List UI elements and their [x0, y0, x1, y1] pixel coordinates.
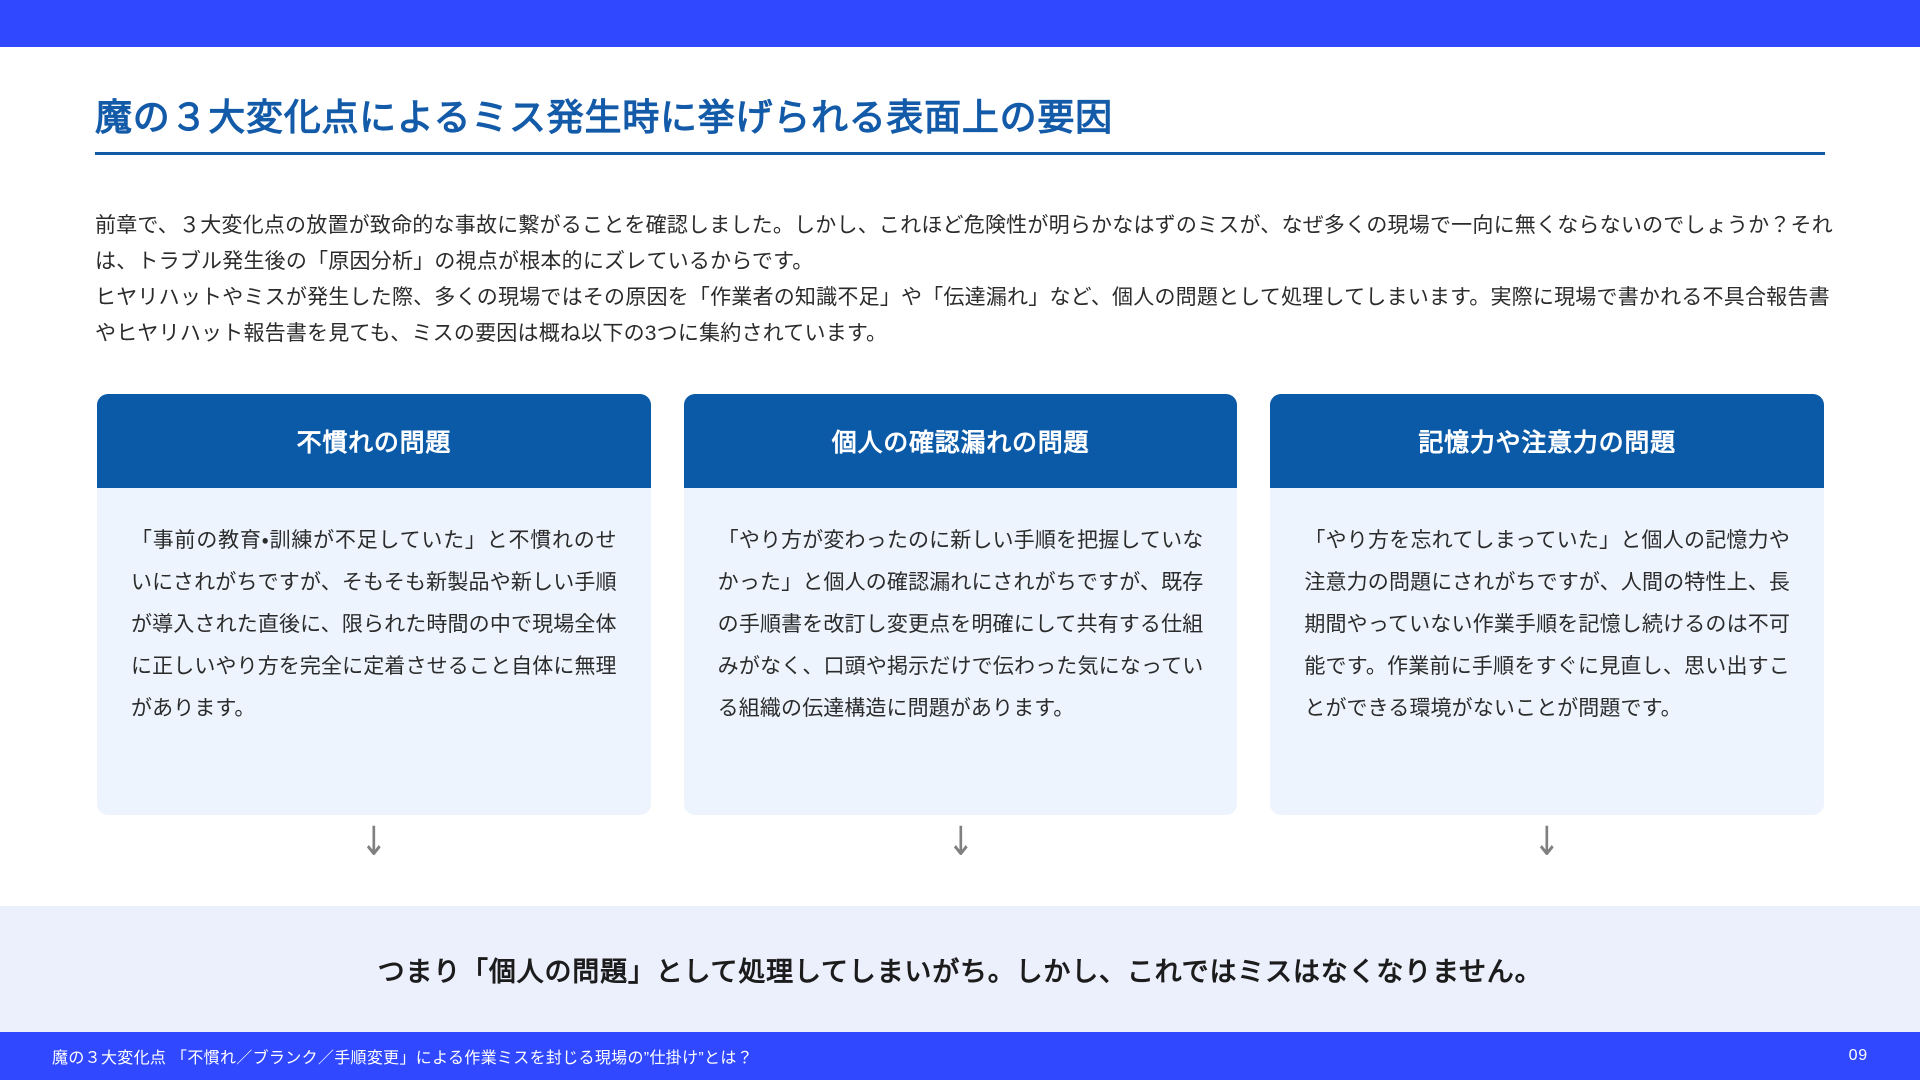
factor-card-2: 個人の確認漏れの問題 「やり方が変わったのに新しい手順を把握していなかった」と個… — [684, 394, 1238, 815]
factor-card-3-title: 記憶力や注意力の問題 — [1270, 394, 1824, 488]
page-title: 魔の３大変化点によるミス発生時に挙げられる表面上の要因 — [95, 96, 1825, 140]
arrow-cell-2: ↓ — [684, 822, 1238, 862]
factor-card-list: 不慣れの問題 「事前の教育・訓練が不足していた」と不慣れのせいにされがちですが、… — [97, 394, 1824, 815]
arrow-cell-1: ↓ — [97, 822, 651, 862]
title-underline-rule — [95, 152, 1825, 155]
intro-text-block: 前章で、３大変化点の放置が致命的な事故に繋がることを確認しました。しかし、これほ… — [95, 208, 1835, 352]
footer-title: 魔の３大変化点 「不慣れ／ブランク／手順変更」による作業ミスを封じる現場の”仕掛… — [52, 1044, 753, 1068]
footer-page-number: 09 — [1849, 1047, 1868, 1065]
arrow-cell-3: ↓ — [1270, 822, 1824, 862]
top-accent-bar — [0, 0, 1920, 47]
conclusion-text: つまり「個人の問題」として処理してしまいがち。しかし、これではミスはなくなりませ… — [378, 950, 1543, 989]
factor-card-3: 記憶力や注意力の問題 「やり方を忘れてしまっていた」と個人の記憶力や注意力の問題… — [1270, 394, 1824, 815]
title-block: 魔の３大変化点によるミス発生時に挙げられる表面上の要因 — [95, 96, 1825, 155]
arrow-row: ↓ ↓ ↓ — [97, 822, 1824, 862]
factor-card-2-title: 個人の確認漏れの問題 — [684, 394, 1238, 488]
factor-card-2-body: 「やり方が変わったのに新しい手順を把握していなかった」と個人の確認漏れにされがち… — [684, 488, 1238, 815]
intro-paragraph-2: ヒヤリハットやミスが発生した際、多くの現場ではその原因を「作業者の知識不足」や「… — [95, 280, 1835, 352]
footer-bar: 魔の３大変化点 「不慣れ／ブランク／手順変更」による作業ミスを封じる現場の”仕掛… — [0, 1032, 1920, 1080]
factor-card-1-title: 不慣れの問題 — [97, 394, 651, 488]
arrow-down-icon: ↓ — [947, 822, 974, 862]
factor-card-3-body: 「やり方を忘れてしまっていた」と個人の記憶力や注意力の問題にされがちですが、人間… — [1270, 488, 1824, 815]
arrow-down-icon: ↓ — [1534, 822, 1561, 862]
conclusion-band: つまり「個人の問題」として処理してしまいがち。しかし、これではミスはなくなりませ… — [0, 906, 1920, 1032]
intro-paragraph-1: 前章で、３大変化点の放置が致命的な事故に繋がることを確認しました。しかし、これほ… — [95, 208, 1835, 280]
factor-card-1: 不慣れの問題 「事前の教育・訓練が不足していた」と不慣れのせいにされがちですが、… — [97, 394, 651, 815]
arrow-down-icon: ↓ — [360, 822, 387, 862]
factor-card-1-body: 「事前の教育・訓練が不足していた」と不慣れのせいにされがちですが、そもそも新製品… — [97, 488, 651, 815]
